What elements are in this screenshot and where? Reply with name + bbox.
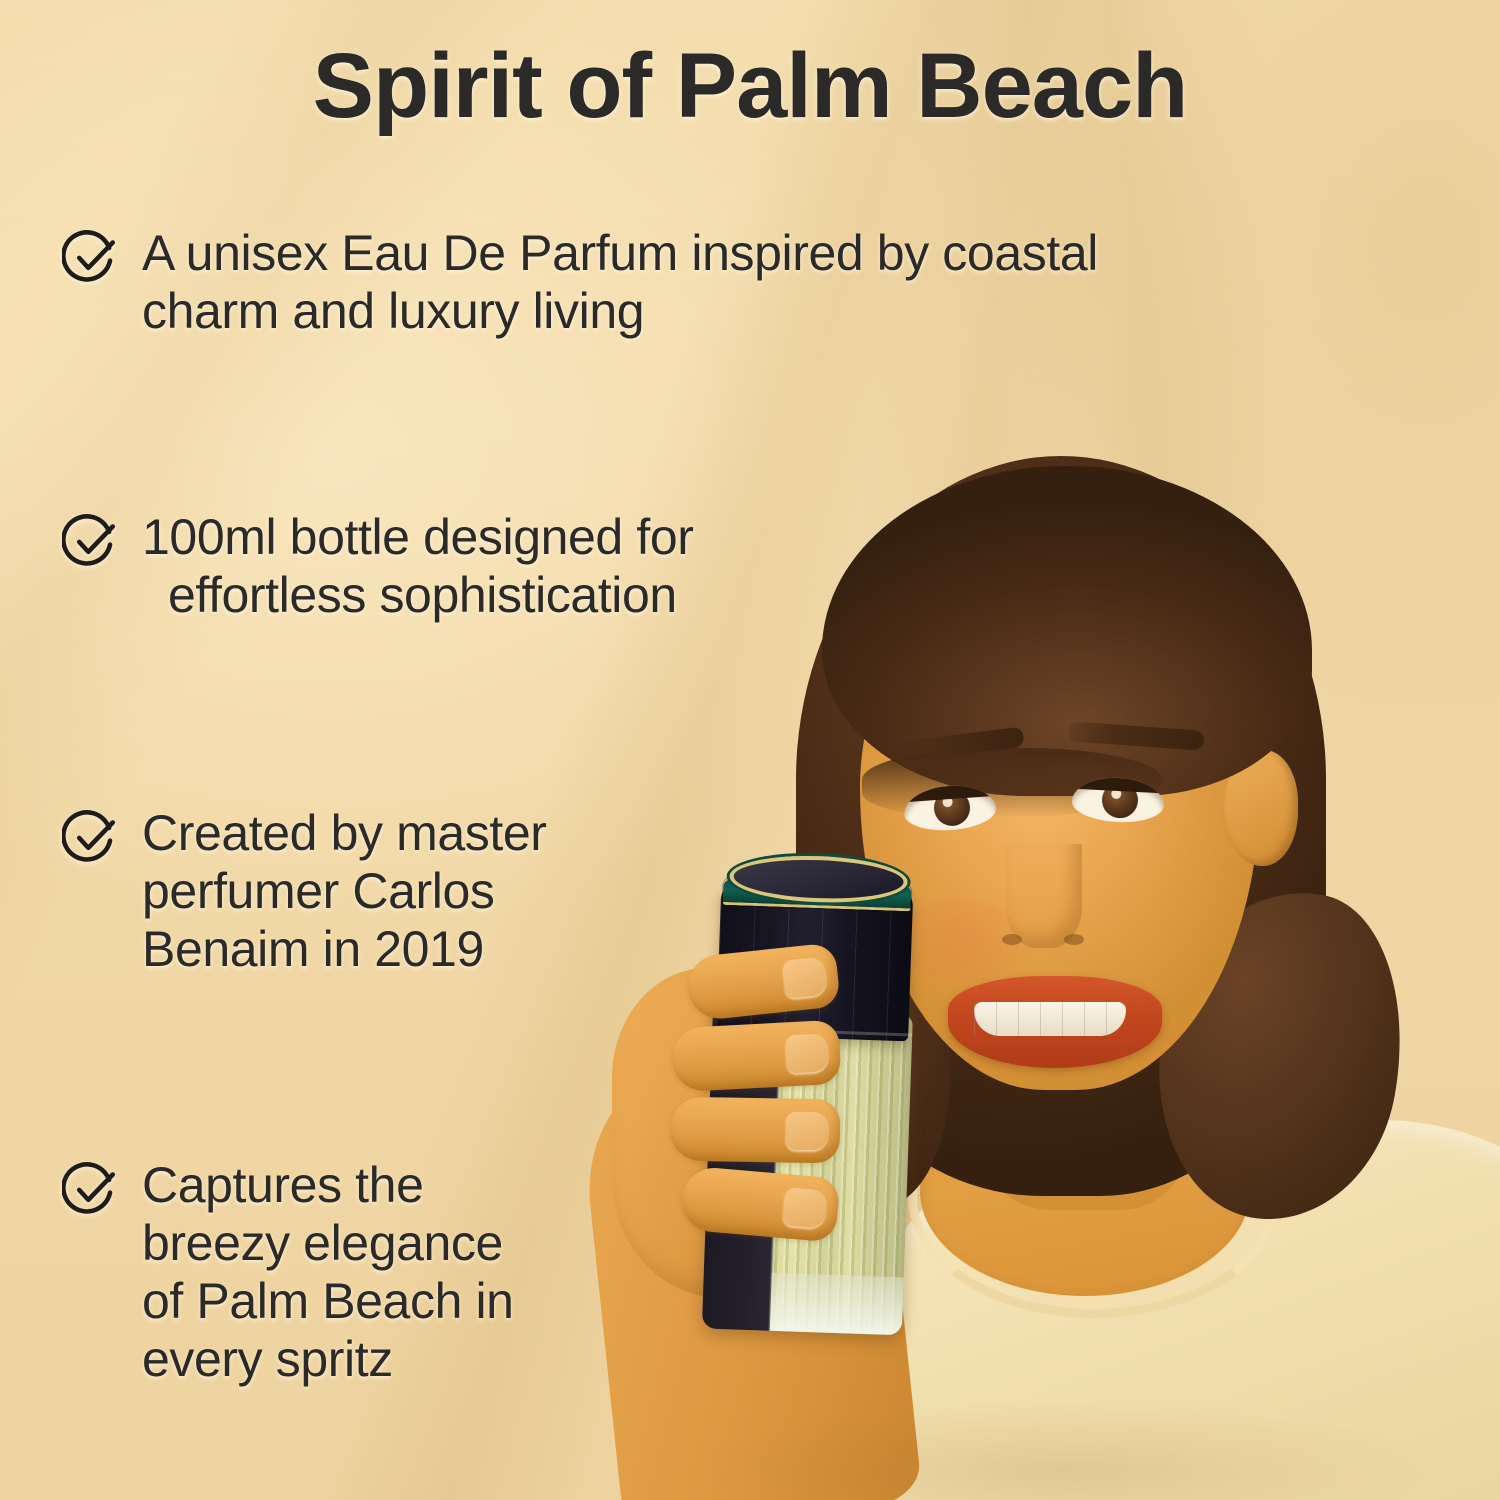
feature-line: breezy elegance [142,1214,514,1272]
feature-line: every spritz [142,1330,514,1388]
fingernail [782,1187,827,1229]
feature-line: effortless sophistication [142,566,693,624]
feature-item: Captures the breezy elegance of Palm Bea… [62,1156,622,1388]
feature-text: 100ml bottle designed for effortless sop… [142,508,693,624]
hair-front-sweep [822,466,1312,796]
fingernail [786,1112,829,1151]
fingernail [782,957,828,999]
feature-line: perfumer Carlos [142,862,546,920]
check-circle-icon [62,228,120,286]
feature-item: Created by master perfumer Carlos Benaim… [62,804,702,978]
check-circle-icon [62,1160,120,1218]
feature-line: of Palm Beach in [142,1272,514,1330]
feature-line: Benaim in 2019 [142,920,546,978]
product-feature-poster: Spirit of Palm Beach [0,0,1500,1500]
page-title: Spirit of Palm Beach [0,34,1500,139]
check-circle-icon [62,512,120,570]
feature-line: Created by master [142,804,546,862]
finger-middle [670,1020,841,1093]
feature-line: 100ml bottle designed for [142,508,693,566]
feature-text: A unisex Eau De Parfum inspired by coast… [142,224,1098,340]
feature-line: Captures the [142,1156,514,1214]
feature-line: A unisex Eau De Parfum inspired by coast… [142,224,1098,282]
nose [1006,844,1082,948]
feature-text: Created by master perfumer Carlos Benaim… [142,804,546,978]
nostril-right [1064,934,1084,945]
mouth [948,976,1162,1068]
feature-item: 100ml bottle designed for effortless sop… [62,508,852,624]
feature-item: A unisex Eau De Parfum inspired by coast… [62,224,1292,340]
check-circle-icon [62,808,120,866]
feature-line: charm and luxury living [142,282,1098,340]
fingernail [785,1033,829,1073]
finger-ring [669,1097,840,1164]
nostril-left [1002,934,1022,945]
feature-text: Captures the breezy elegance of Palm Bea… [142,1156,514,1388]
teeth [974,1002,1126,1036]
